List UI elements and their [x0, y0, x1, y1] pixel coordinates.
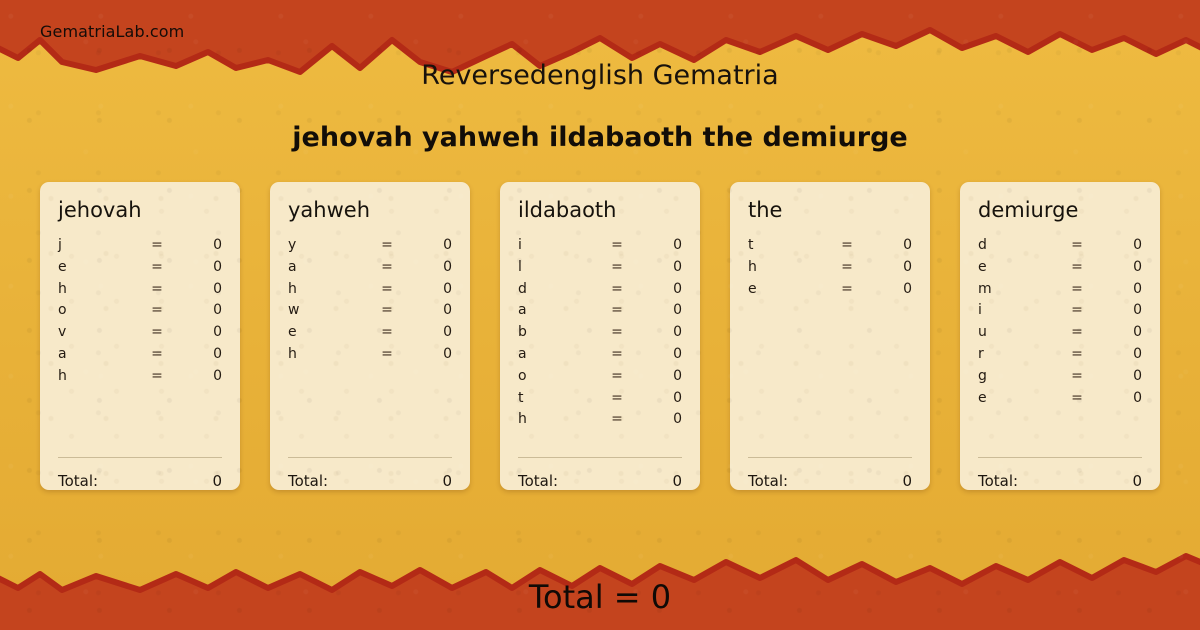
letter-value: 0	[638, 281, 682, 297]
letter-row: o=0	[518, 368, 682, 390]
letter-value: 0	[178, 259, 222, 275]
letter-value: 0	[868, 237, 912, 253]
card-word-title: ildabaoth	[518, 200, 682, 221]
letter: e	[978, 259, 1056, 275]
letter-row: e=0	[288, 324, 452, 346]
letter-row: v=0	[58, 324, 222, 346]
equals-sign: =	[136, 302, 178, 318]
equals-sign: =	[826, 281, 868, 297]
card-total-row: Total:0	[58, 458, 222, 490]
letter-row: t=0	[748, 237, 912, 259]
letter-row: d=0	[978, 237, 1142, 259]
phrase-heading: jehovah yahweh ildabaoth the demiurge	[0, 122, 1200, 153]
letter-value: 0	[638, 390, 682, 406]
letter: i	[978, 302, 1056, 318]
equals-sign: =	[596, 302, 638, 318]
letter-value: 0	[178, 281, 222, 297]
letter-rows: y=0a=0h=0w=0e=0h=0	[288, 237, 452, 457]
letter-value: 0	[638, 411, 682, 427]
grand-total: Total = 0	[0, 578, 1200, 616]
equals-sign: =	[136, 259, 178, 275]
letter-row: g=0	[978, 368, 1142, 390]
letter-row: j=0	[58, 237, 222, 259]
equals-sign: =	[826, 237, 868, 253]
letter-value: 0	[408, 237, 452, 253]
letter-row: h=0	[58, 281, 222, 303]
letter-row: y=0	[288, 237, 452, 259]
letter-row: t=0	[518, 390, 682, 412]
letter-row: d=0	[518, 281, 682, 303]
card-total-value: 0	[672, 472, 682, 490]
letter: v	[58, 324, 136, 340]
letter-row: i=0	[978, 302, 1142, 324]
letter-value: 0	[1098, 237, 1142, 253]
letter: h	[58, 281, 136, 297]
letter: h	[288, 281, 366, 297]
equals-sign: =	[596, 324, 638, 340]
equals-sign: =	[596, 259, 638, 275]
letter-row: r=0	[978, 346, 1142, 368]
equals-sign: =	[1056, 281, 1098, 297]
equals-sign: =	[1056, 390, 1098, 406]
letter-row: a=0	[518, 302, 682, 324]
letter-row: b=0	[518, 324, 682, 346]
letter-rows: i=0l=0d=0a=0b=0a=0o=0t=0h=0	[518, 237, 682, 457]
letter: w	[288, 302, 366, 318]
equals-sign: =	[136, 346, 178, 362]
letter: t	[748, 237, 826, 253]
equals-sign: =	[366, 302, 408, 318]
letter-value: 0	[178, 324, 222, 340]
card-total-value: 0	[212, 472, 222, 490]
letter-row: e=0	[978, 390, 1142, 412]
letter: m	[978, 281, 1056, 297]
letter-value: 0	[408, 346, 452, 362]
letter: l	[518, 259, 596, 275]
letter: o	[518, 368, 596, 384]
letter: g	[978, 368, 1056, 384]
letter: e	[978, 390, 1056, 406]
letter: u	[978, 324, 1056, 340]
word-card: yahwehy=0a=0h=0w=0e=0h=0Total:0	[270, 182, 470, 490]
letter-row: l=0	[518, 259, 682, 281]
equals-sign: =	[366, 324, 408, 340]
letter-row: e=0	[58, 259, 222, 281]
letter: h	[518, 411, 596, 427]
page-title: Reversedenglish Gematria	[0, 60, 1200, 91]
letter-rows: t=0h=0e=0	[748, 237, 912, 457]
card-word-title: demiurge	[978, 200, 1142, 221]
letter: h	[58, 368, 136, 384]
card-total-row: Total:0	[288, 458, 452, 490]
letter-row: e=0	[978, 259, 1142, 281]
letter-row: a=0	[58, 346, 222, 368]
equals-sign: =	[136, 324, 178, 340]
letter-value: 0	[1098, 259, 1142, 275]
equals-sign: =	[596, 368, 638, 384]
word-card: thet=0h=0e=0Total:0	[730, 182, 930, 490]
letter-value: 0	[638, 237, 682, 253]
letter-value: 0	[178, 237, 222, 253]
letter-value: 0	[1098, 368, 1142, 384]
card-total-value: 0	[902, 472, 912, 490]
letter: a	[518, 346, 596, 362]
equals-sign: =	[596, 237, 638, 253]
letter-value: 0	[408, 259, 452, 275]
letter-value: 0	[1098, 390, 1142, 406]
letter-value: 0	[178, 302, 222, 318]
letter-value: 0	[408, 324, 452, 340]
letter: j	[58, 237, 136, 253]
letter: o	[58, 302, 136, 318]
letter-value: 0	[178, 368, 222, 384]
letter-value: 0	[638, 346, 682, 362]
equals-sign: =	[596, 390, 638, 406]
letter-value: 0	[638, 324, 682, 340]
equals-sign: =	[1056, 324, 1098, 340]
letter: e	[288, 324, 366, 340]
card-total-value: 0	[442, 472, 452, 490]
letter-rows: d=0e=0m=0i=0u=0r=0g=0e=0	[978, 237, 1142, 457]
equals-sign: =	[366, 281, 408, 297]
letter: h	[288, 346, 366, 362]
letter-value: 0	[1098, 324, 1142, 340]
letter-value: 0	[1098, 281, 1142, 297]
letter: r	[978, 346, 1056, 362]
word-card: demiurged=0e=0m=0i=0u=0r=0g=0e=0Total:0	[960, 182, 1160, 490]
equals-sign: =	[826, 259, 868, 275]
letter: t	[518, 390, 596, 406]
letter-value: 0	[1098, 346, 1142, 362]
word-card: jehovahj=0e=0h=0o=0v=0a=0h=0Total:0	[40, 182, 240, 490]
letter-row: a=0	[518, 346, 682, 368]
letter: d	[978, 237, 1056, 253]
card-word-title: yahweh	[288, 200, 452, 221]
letter: i	[518, 237, 596, 253]
letter-row: u=0	[978, 324, 1142, 346]
card-word-title: jehovah	[58, 200, 222, 221]
equals-sign: =	[596, 411, 638, 427]
card-total-row: Total:0	[748, 458, 912, 490]
letter-value: 0	[638, 259, 682, 275]
letter-row: a=0	[288, 259, 452, 281]
equals-sign: =	[366, 259, 408, 275]
equals-sign: =	[1056, 302, 1098, 318]
letter-row: m=0	[978, 281, 1142, 303]
letter-value: 0	[408, 281, 452, 297]
letter-row: h=0	[288, 281, 452, 303]
letter: e	[58, 259, 136, 275]
card-total-label: Total:	[748, 472, 902, 490]
letter: a	[518, 302, 596, 318]
letter-row: i=0	[518, 237, 682, 259]
letter: d	[518, 281, 596, 297]
equals-sign: =	[136, 237, 178, 253]
letter-row: h=0	[58, 368, 222, 390]
letter-value: 0	[178, 346, 222, 362]
card-total-row: Total:0	[518, 458, 682, 490]
site-logo[interactable]: GematriaLab.com	[40, 22, 184, 41]
letter-value: 0	[638, 302, 682, 318]
letter: e	[748, 281, 826, 297]
letter: a	[288, 259, 366, 275]
equals-sign: =	[366, 237, 408, 253]
word-card: ildabaothi=0l=0d=0a=0b=0a=0o=0t=0h=0Tota…	[500, 182, 700, 490]
letter-value: 0	[1098, 302, 1142, 318]
letter-value: 0	[638, 368, 682, 384]
letter: a	[58, 346, 136, 362]
card-total-label: Total:	[288, 472, 442, 490]
gematria-result-image: GematriaLab.com Reversedenglish Gematria…	[0, 0, 1200, 630]
equals-sign: =	[136, 281, 178, 297]
letter: h	[748, 259, 826, 275]
card-total-row: Total:0	[978, 458, 1142, 490]
letter: y	[288, 237, 366, 253]
equals-sign: =	[1056, 346, 1098, 362]
card-total-label: Total:	[58, 472, 212, 490]
letter: b	[518, 324, 596, 340]
equals-sign: =	[1056, 259, 1098, 275]
letter-value: 0	[408, 302, 452, 318]
equals-sign: =	[1056, 368, 1098, 384]
letter-value: 0	[868, 281, 912, 297]
letter-value: 0	[868, 259, 912, 275]
letter-row: o=0	[58, 302, 222, 324]
card-total-value: 0	[1132, 472, 1142, 490]
letter-rows: j=0e=0h=0o=0v=0a=0h=0	[58, 237, 222, 457]
letter-row: w=0	[288, 302, 452, 324]
letter-row: e=0	[748, 281, 912, 303]
word-card-list: jehovahj=0e=0h=0o=0v=0a=0h=0Total:0yahwe…	[40, 182, 1160, 490]
card-word-title: the	[748, 200, 912, 221]
card-total-label: Total:	[518, 472, 672, 490]
letter-row: h=0	[748, 259, 912, 281]
equals-sign: =	[1056, 237, 1098, 253]
letter-row: h=0	[518, 411, 682, 433]
equals-sign: =	[136, 368, 178, 384]
equals-sign: =	[596, 281, 638, 297]
letter-row: h=0	[288, 346, 452, 368]
card-total-label: Total:	[978, 472, 1132, 490]
equals-sign: =	[596, 346, 638, 362]
equals-sign: =	[366, 346, 408, 362]
